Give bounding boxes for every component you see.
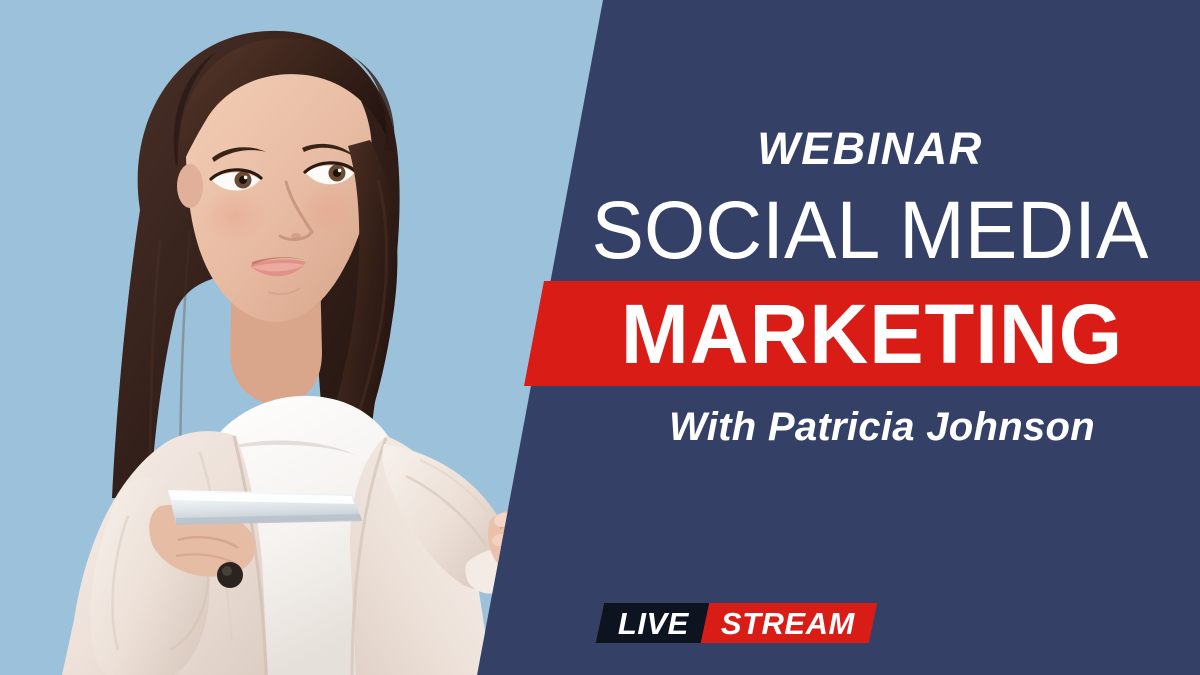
live-stream-badge: LIVE STREAM <box>596 603 877 643</box>
badge-live-label: LIVE <box>618 608 689 639</box>
presenter-photo <box>0 0 620 675</box>
ear-left <box>177 164 203 208</box>
badge-stream-label: STREAM <box>721 608 855 639</box>
poster-text-column: WEBINAR SOCIAL MEDIA MARKETING With Patr… <box>560 0 1200 675</box>
cheek-left <box>201 188 269 244</box>
headline-line-1: SOCIAL MEDIA <box>553 190 1187 272</box>
badge-live-segment: LIVE <box>596 603 709 643</box>
headline-line-2: MARKETING <box>550 292 1194 376</box>
cheek-right <box>298 184 358 236</box>
badge-stream-segment: STREAM <box>701 603 877 643</box>
ring <box>520 537 536 549</box>
webinar-poster: WEBINAR SOCIAL MEDIA MARKETING With Patr… <box>0 0 1200 675</box>
kicker-webinar: WEBINAR <box>560 126 1180 171</box>
presenter-name: With Patricia Johnson <box>560 407 1200 447</box>
